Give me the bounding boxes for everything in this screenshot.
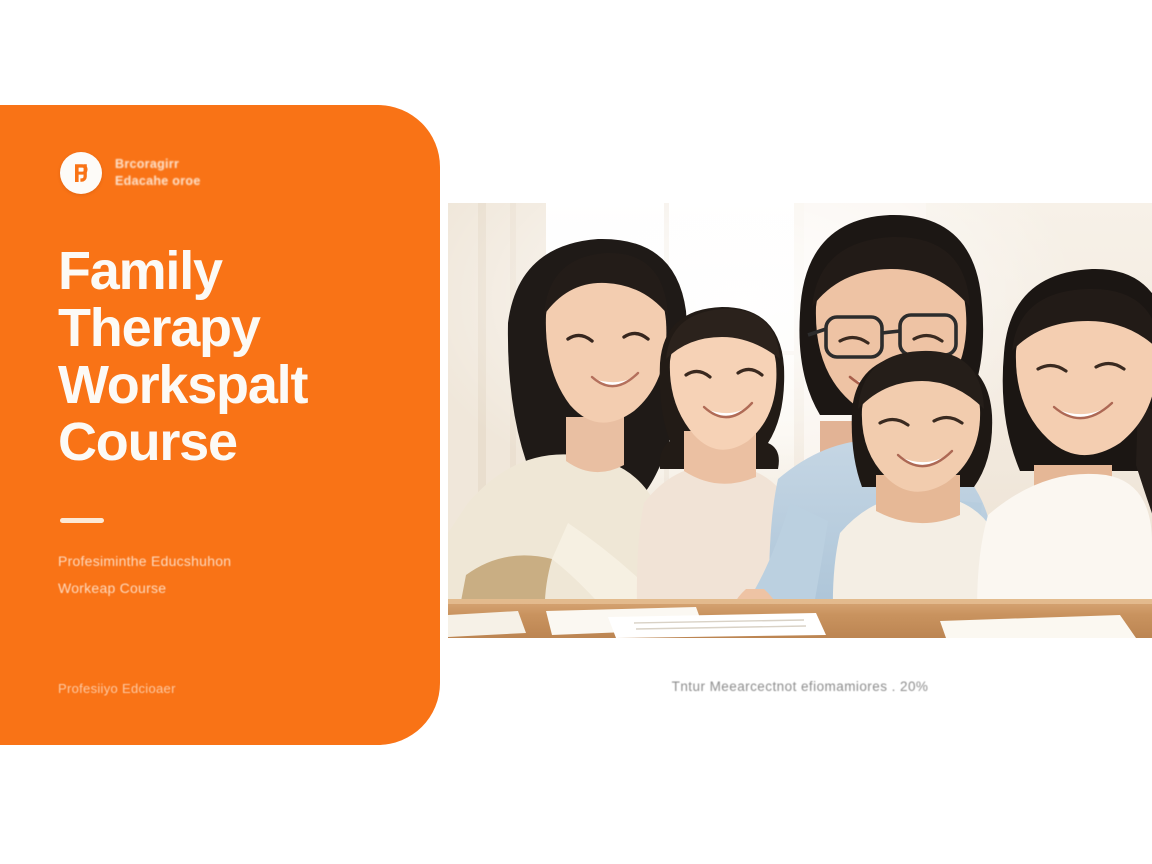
brand-line-2: Edacahe oroe xyxy=(115,174,201,189)
title-line-1: Family xyxy=(58,243,418,300)
family-photo xyxy=(448,203,1152,638)
subtitle: Profesiminthe Educshuhon Workeap Course xyxy=(58,548,388,602)
subtitle-line-1: Profesiminthe Educshuhon xyxy=(58,548,388,575)
brand-line-1: Brcoragirr xyxy=(115,157,201,172)
brand-text: Brcoragirr Edacahe oroe xyxy=(115,157,201,189)
subtitle-line-2: Workeap Course xyxy=(58,575,388,602)
p-monogram-logo-icon xyxy=(60,152,102,194)
title-divider xyxy=(60,518,104,523)
photo-caption: Tntur Meearcectnot efiomamiores . 20% xyxy=(448,678,1152,696)
title-line-2: Therapy xyxy=(58,300,418,357)
panel-footer-text: Profesiiyo Edcioaer xyxy=(58,680,176,697)
brand-lockup[interactable]: Brcoragirr Edacahe oroe xyxy=(60,152,201,194)
title-line-3: Workspalt xyxy=(58,357,418,414)
title-line-4: Course xyxy=(58,414,418,471)
presentation-slide: Tntur Meearcectnot efiomamiores . 20% Br… xyxy=(0,0,1152,864)
family-photo-illustration xyxy=(448,203,1152,638)
page-title: Family Therapy Workspalt Course xyxy=(58,243,418,471)
